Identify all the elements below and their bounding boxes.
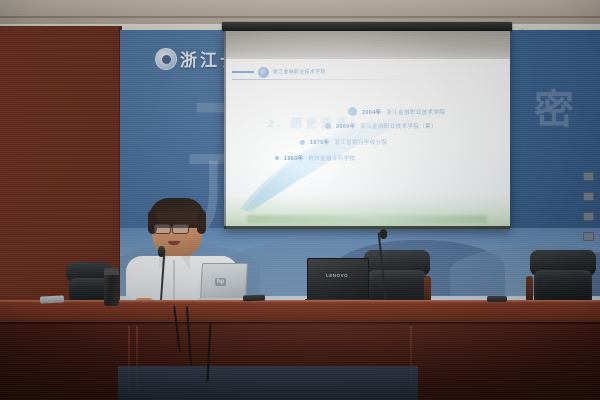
microphone-second xyxy=(385,232,388,302)
timeline-dot-icon xyxy=(300,140,305,145)
smartphone-third[interactable] xyxy=(487,296,507,302)
laptop-black[interactable]: LENOVO xyxy=(305,258,369,306)
slide-timeline-item: 1960年 杭州金融专科学校 xyxy=(282,154,356,162)
thermos-bottle xyxy=(104,268,119,306)
slide-header-rule xyxy=(232,71,254,73)
timeline-dot-icon xyxy=(348,107,357,116)
screen-bottom-bar xyxy=(224,226,510,229)
timeline-year: 2004年 xyxy=(362,108,381,116)
smartphone-black[interactable] xyxy=(243,295,265,302)
timeline-year: 1960年 xyxy=(284,154,303,162)
slide-timeline-item: 1975年 浙江省银行学校分院 xyxy=(308,138,387,146)
eyeglasses-right-lens-icon xyxy=(172,224,189,234)
slide-header-divider xyxy=(232,79,422,80)
lenovo-logo-icon: LENOVO xyxy=(326,273,348,278)
eyeglasses-left-lens-icon xyxy=(154,224,171,234)
slide-timeline-item: 2004年 浙江金融职业技术学院 xyxy=(360,107,445,116)
hp-logo-icon: hp xyxy=(215,278,226,286)
wall-panel-icon xyxy=(583,172,594,181)
timeline-year: 1975年 xyxy=(310,138,329,146)
slide-org-name: 浙江金融职业技术学院 xyxy=(273,69,326,75)
thermos-lid xyxy=(104,268,119,275)
shirt-collar-right xyxy=(181,256,190,270)
timeline-text: 浙江省银行学校分院 xyxy=(334,138,387,146)
timeline-dot-icon xyxy=(325,123,331,129)
screen-blank-margin xyxy=(224,31,510,59)
slide-timeline-item: 2000年 浙江金融职业技术学院（筹） xyxy=(334,122,437,130)
laptop-lid xyxy=(307,258,369,302)
laptop-silver[interactable]: hp xyxy=(198,263,248,305)
slide-header: 浙江金融职业技术学院 xyxy=(232,65,502,79)
slide-logo-icon xyxy=(258,67,269,78)
timeline-text: 浙江金融职业技术学院（筹） xyxy=(360,122,437,130)
microphone-capsule-icon xyxy=(158,246,165,257)
university-crest-icon xyxy=(155,48,177,70)
microphone-capsule-icon xyxy=(380,229,387,239)
slide-footer-strip xyxy=(247,215,487,223)
eyeglasses-bridge-icon xyxy=(169,227,172,228)
wall-panel-icon xyxy=(583,192,594,201)
lower-dais-panel xyxy=(118,366,418,400)
wall-panel-icon xyxy=(583,232,594,241)
projector-screen-housing xyxy=(222,22,512,31)
ceiling-seam xyxy=(0,16,600,18)
wall-panel-icon xyxy=(583,212,594,221)
timeline-text: 浙江金融职业技术学院 xyxy=(386,108,445,116)
projection-screen: 浙江金融职业技术学院 xyxy=(224,31,510,229)
timeline-dot-icon xyxy=(275,156,279,160)
conference-room-photo: 二 川 密 浙江长 浙 浙江金融职业技术学院 xyxy=(0,0,600,400)
presentation-slide: 浙江金融职业技术学院 xyxy=(224,59,510,229)
timeline-text: 杭州金融专科学校 xyxy=(308,154,355,162)
smartphone-silver[interactable] xyxy=(40,295,64,303)
podium-table-top xyxy=(0,300,600,324)
microphone-speaker xyxy=(160,250,163,304)
slide-footer-image xyxy=(224,195,510,229)
wall-watermark-side: 密 xyxy=(530,88,570,142)
timeline-year: 2000年 xyxy=(336,122,355,130)
